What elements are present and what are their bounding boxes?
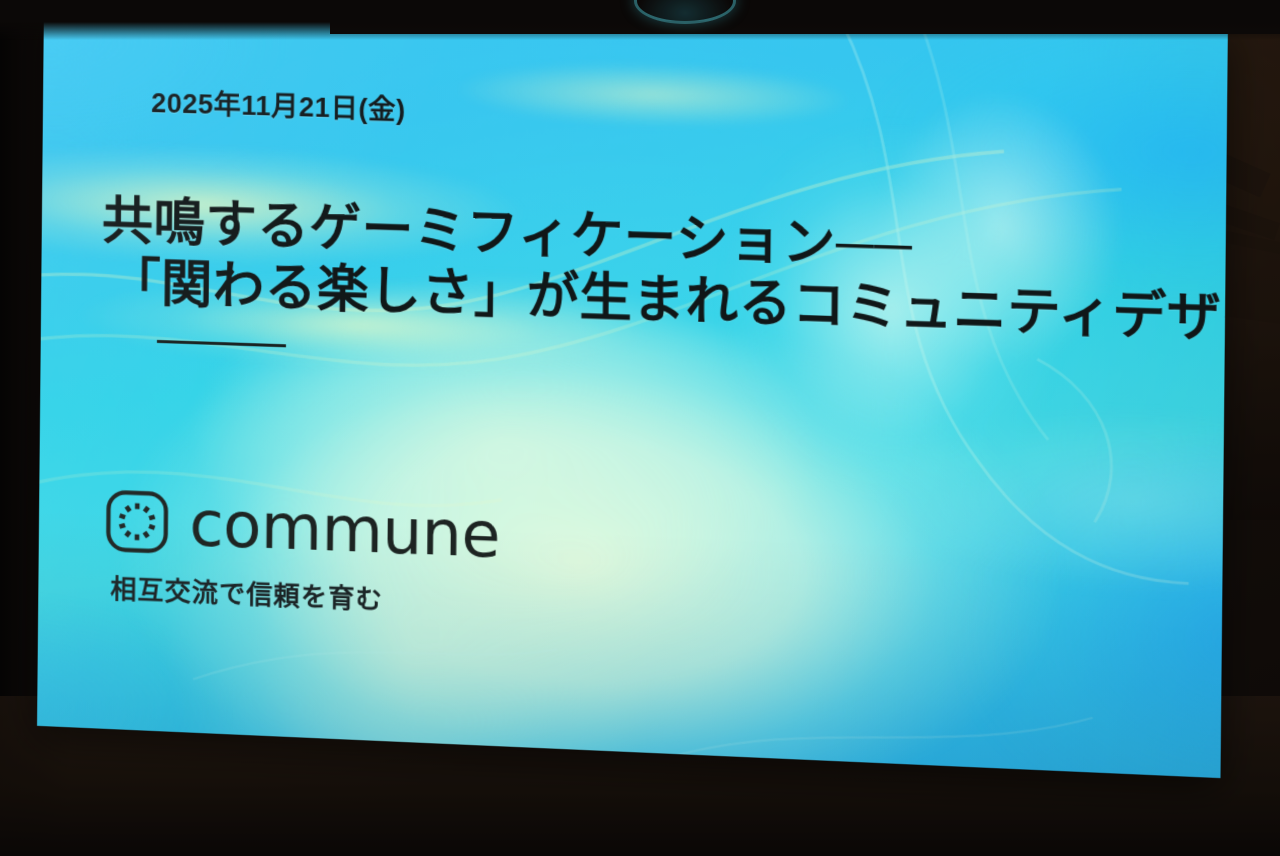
brand-logo-block: commune 相互交流で信頼を育む [104,488,500,621]
slide-photo: 2025年11月21日(金) 共鳴するゲーミフィケーション── 「関わる楽しさ」… [0,0,1280,856]
slide-content: 2025年11月21日(金) 共鳴するゲーミフィケーション── 「関わる楽しさ」… [37,0,1228,778]
commune-wordmark: commune [189,493,500,568]
brand-tagline: 相互交流で信頼を育む [110,569,499,622]
slide-date: 2025年11月21日(金) [151,81,406,127]
projection-screen: 2025年11月21日(金) 共鳴するゲーミフィケーション── 「関わる楽しさ」… [37,0,1228,778]
logo-row: commune [105,488,500,568]
slide-surface: 2025年11月21日(金) 共鳴するゲーミフィケーション── 「関わる楽しさ」… [37,0,1228,778]
title-divider-rule [157,340,286,347]
commune-dashed-circle-icon [105,488,170,555]
slide-title: 共鳴するゲーミフィケーション── 「関わる楽しさ」が生まれるコミュニティデザイン [79,189,1219,379]
